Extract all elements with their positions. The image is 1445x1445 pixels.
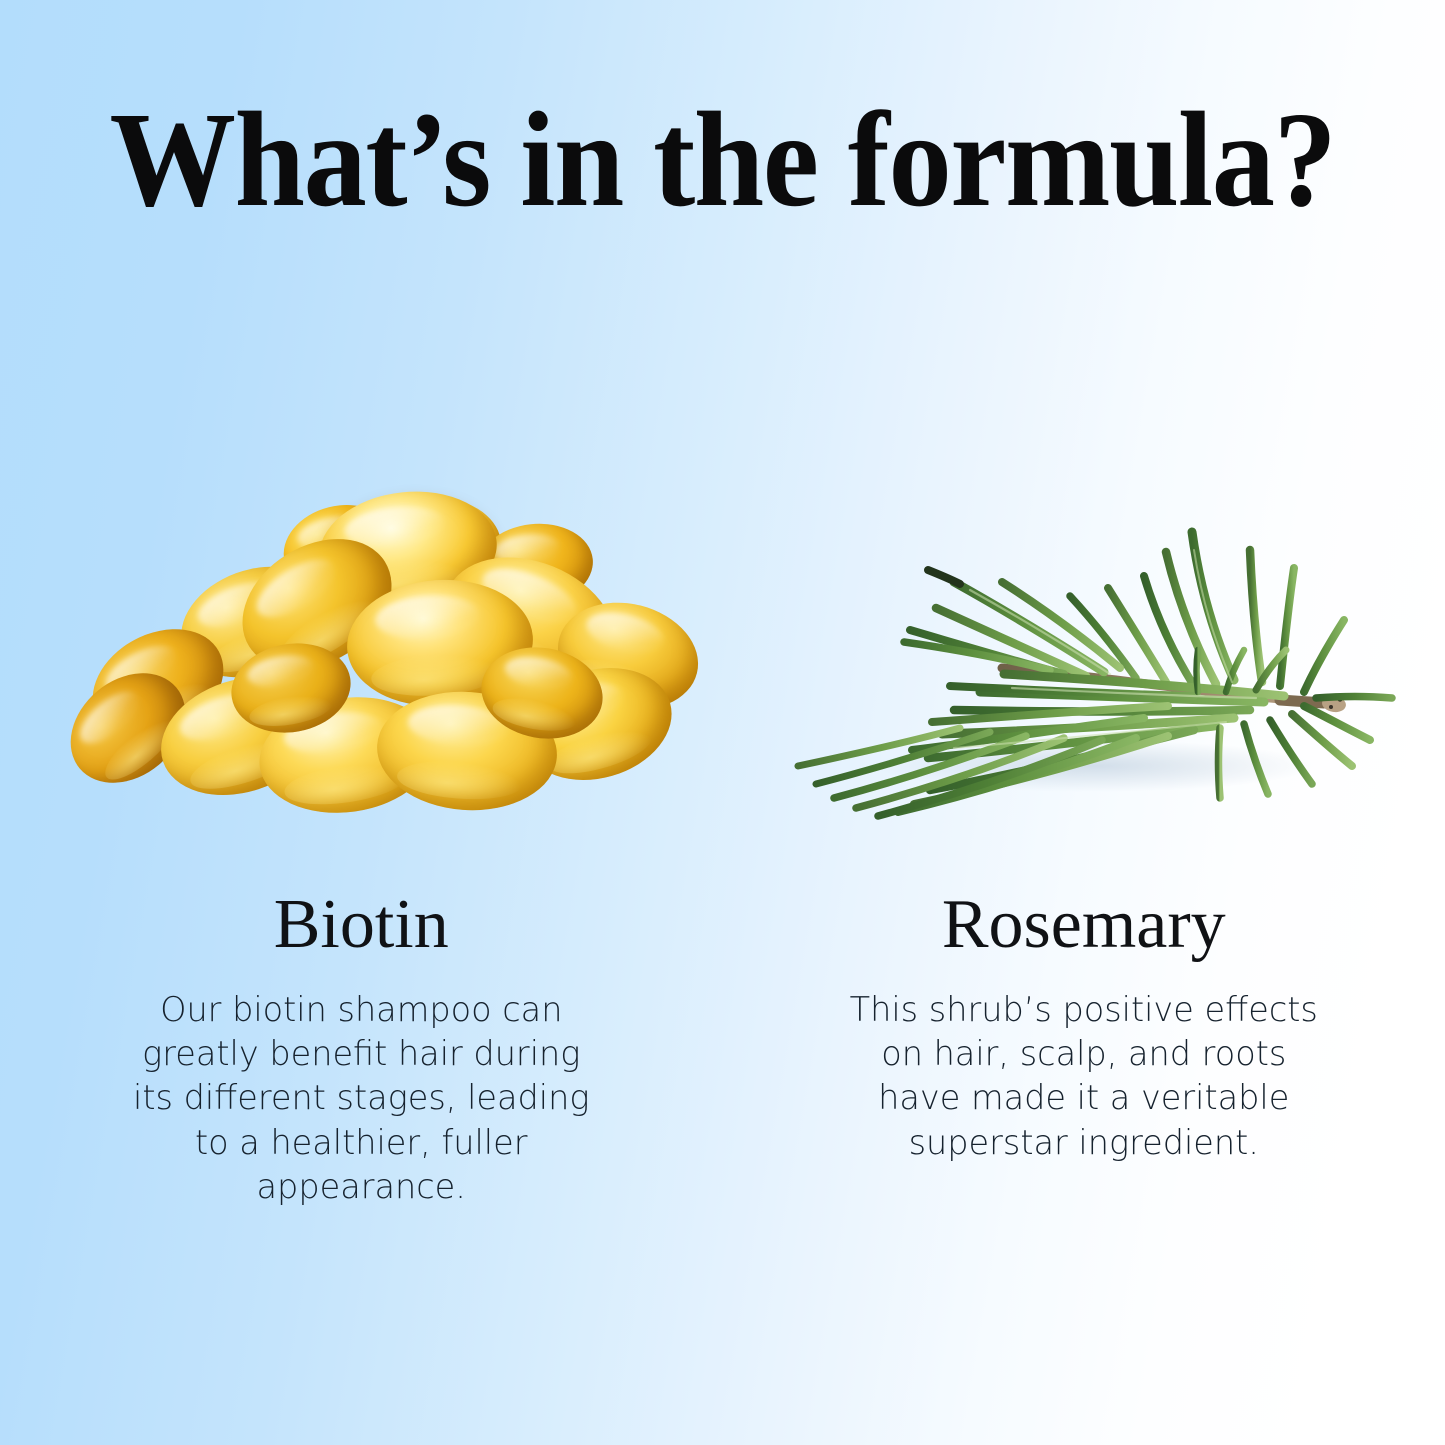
ingredient-card-rosemary: Rosemary This shrub’s positive effects o…	[723, 470, 1445, 1209]
ingredient-name-biotin: Biotin	[274, 890, 449, 960]
rosemary-sprig-image	[764, 490, 1404, 830]
ingredient-name-rosemary: Rosemary	[942, 890, 1226, 960]
ingredient-card-biotin: Biotin Our biotin shampoo can greatly be…	[0, 470, 723, 1209]
formula-poster: What’s in the formula?	[0, 0, 1445, 1445]
ingredient-description-biotin: Our biotin shampoo can greatly benefit h…	[126, 988, 596, 1209]
ingredient-columns: Biotin Our biotin shampoo can greatly be…	[0, 470, 1445, 1209]
page-title: What’s in the formula?	[51, 92, 1395, 228]
ingredient-description-rosemary: This shrub’s positive effects on hair, s…	[844, 988, 1324, 1165]
biotin-art-slot	[0, 470, 723, 860]
gel-capsules-image	[51, 484, 671, 814]
rosemary-art-slot	[723, 470, 1445, 860]
